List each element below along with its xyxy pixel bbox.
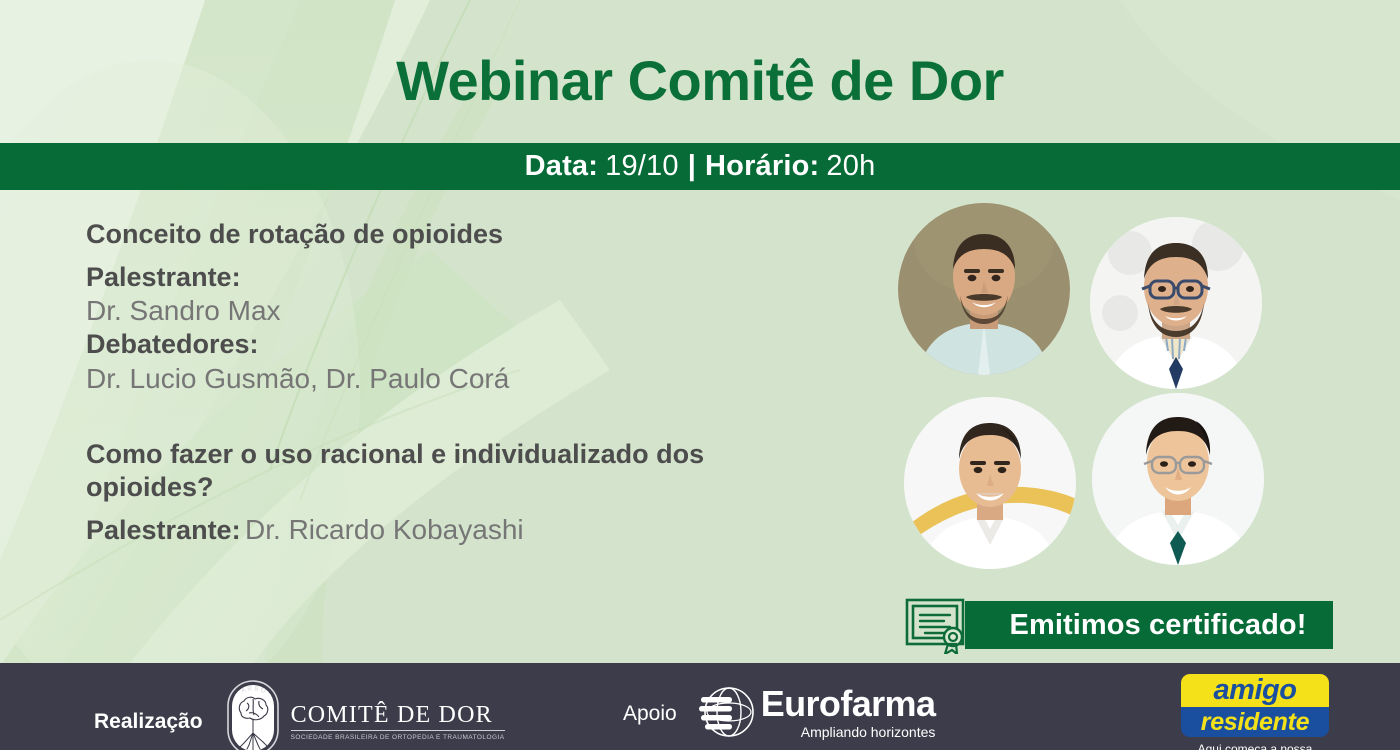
amigo-word: amigo — [1214, 676, 1297, 705]
session-1-speaker-label: Palestrante: — [86, 261, 786, 293]
amigo-tagline: Aqui começa a nossa história — [1181, 742, 1329, 750]
amigo-bottom-band: residente — [1181, 707, 1329, 737]
time-label: Horário: — [705, 150, 819, 183]
certificate-bar: Emitimos certificado! — [965, 601, 1333, 649]
session-spacer — [86, 396, 786, 438]
session-2-speaker-line: Palestrante: Dr. Ricardo Kobayashi — [86, 514, 786, 546]
portrait-sandro-max — [898, 203, 1070, 375]
date-time-bar: Data: 19/10 | Horário: 20h — [0, 143, 1400, 190]
time-value: 20h — [826, 150, 875, 183]
certificate-badge: Emitimos certificado! — [903, 596, 1333, 654]
session-1-speaker-name: Dr. Sandro Max — [86, 293, 786, 328]
eurofarma-text: Eurofarma Ampliando horizontes — [761, 687, 936, 740]
apoio-group: Apoio Eur — [623, 687, 935, 740]
date-label: Data: — [525, 150, 599, 183]
realizacao-label: Realização — [94, 710, 203, 734]
realizacao-group: Realização ARBOR — [94, 687, 505, 750]
page-title: Webinar Comitê de Dor — [0, 52, 1400, 111]
footer-bar: Realização ARBOR — [0, 663, 1400, 750]
sbot-logo: ARBOR — [225, 687, 505, 750]
amigo-residente-box: amigo residente — [1181, 674, 1329, 737]
speaker-photos — [898, 203, 1270, 573]
sbot-text: COMITÊ DE DOR SOCIEDADE BRASILEIRA DE OR… — [291, 703, 505, 741]
session-2-speaker-label: Palestrante: — [86, 515, 241, 545]
session-1-title: Conceito de rotação de opioides — [86, 218, 786, 251]
eurofarma-tagline: Ampliando horizontes — [761, 724, 936, 740]
certificate-icon — [903, 596, 975, 654]
session-block-2: Como fazer o uso racional e individualiz… — [86, 438, 786, 546]
certificate-text: Emitimos certificado! — [992, 609, 1307, 642]
eurofarma-logo: Eurofarma Ampliando horizontes — [699, 687, 936, 740]
session-1-debaters-names: Dr. Lucio Gusmão, Dr. Paulo Corá — [86, 361, 786, 396]
session-2-speaker-name: Dr. Ricardo Kobayashi — [245, 514, 524, 545]
brain-roots-icon: ARBOR — [225, 679, 281, 750]
session-1-debaters-label: Debatedores: — [86, 328, 786, 360]
webinar-banner: Webinar Comitê de Dor Data: 19/10 | Horá… — [0, 0, 1400, 750]
residente-word: residente — [1201, 710, 1309, 735]
eurofarma-name: Eurofarma — [761, 687, 936, 721]
session-2-title: Como fazer o uso racional e individualiz… — [86, 438, 786, 504]
portrait-ricardo-kobayashi — [1092, 393, 1264, 565]
amigo-top-band: amigo — [1181, 674, 1329, 707]
portrait-paulo-cora — [904, 397, 1076, 569]
sessions-content: Conceito de rotação de opioides Palestra… — [86, 218, 786, 546]
globe-icon — [699, 685, 755, 739]
datetime-separator: | — [688, 150, 696, 183]
session-block-1: Conceito de rotação de opioides Palestra… — [86, 218, 786, 396]
apoio-label: Apoio — [623, 702, 677, 726]
sbot-subtitle: SOCIEDADE BRASILEIRA DE ORTOPEDIA E TRAU… — [291, 734, 505, 741]
amigo-residente-logo: amigo residente Aqui começa a nossa hist… — [1181, 674, 1329, 750]
sbot-name: COMITÊ DE DOR — [291, 703, 505, 731]
portrait-lucio-gusmao — [1090, 217, 1262, 389]
date-value: 19/10 — [605, 150, 679, 183]
